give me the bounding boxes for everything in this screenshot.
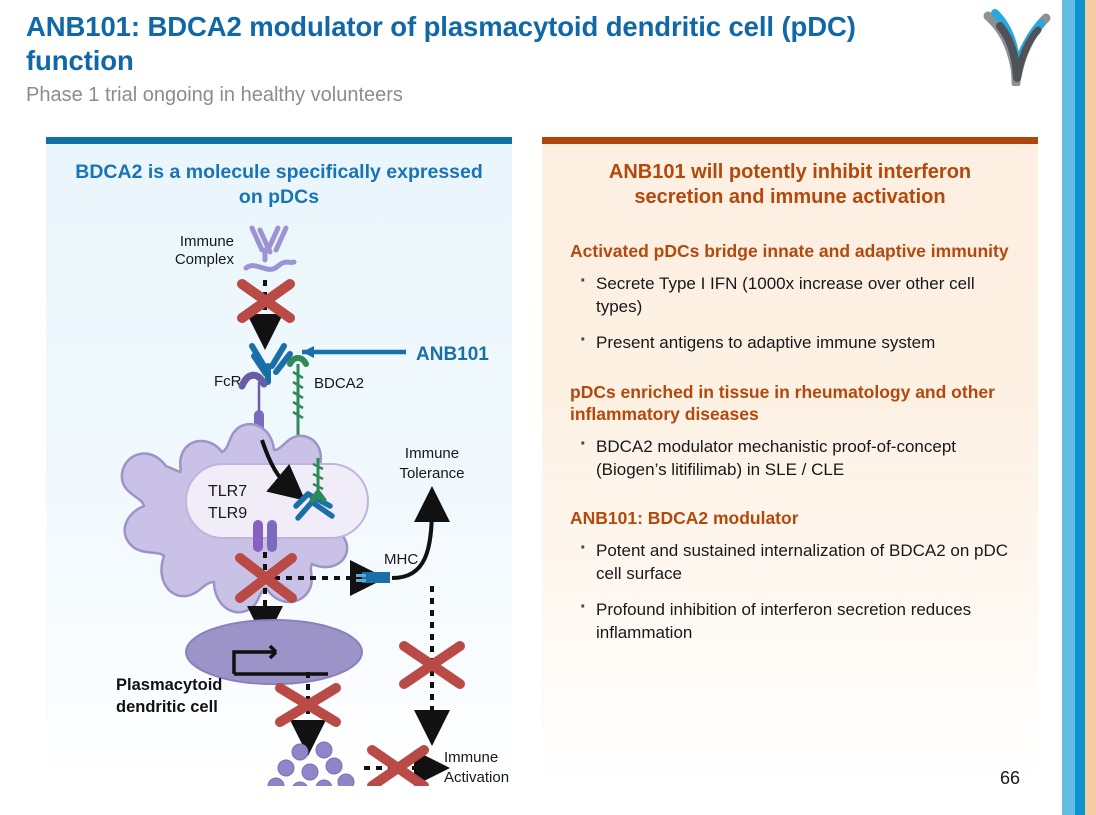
block-cross-4-icon [280, 688, 336, 722]
list-item: Secrete Type I IFN (1000x increase over … [562, 273, 1018, 319]
list-item: BDCA2 modulator mechanistic proof-of-con… [562, 436, 1018, 482]
type-i-ifn-particles [268, 742, 354, 786]
list-item: Present antigens to adaptive immune syst… [562, 332, 1018, 355]
edge-decoration-bars [1062, 0, 1096, 815]
label-immune-activation-line1: Immune [444, 749, 498, 766]
list-item: Profound inhibition of interferon secret… [562, 599, 1018, 645]
edge-bar-light-blue [1062, 0, 1075, 815]
anb101-pointer-head [302, 346, 314, 358]
block-cross-1-icon [242, 284, 290, 318]
bdca2-head-icon [290, 358, 306, 364]
antigen-squiggle-icon [246, 262, 294, 269]
label-mhc: MHC [384, 551, 418, 568]
page-number: 66 [1000, 768, 1020, 789]
pdc-mechanism-diagram: Immune Complex [46, 206, 512, 786]
label-immune-activation-line2: Activation [444, 769, 509, 786]
label-immune-tolerance-line2: Tolerance [399, 465, 464, 482]
chevron-v-logo [978, 6, 1056, 86]
tlr9-channel-icon [267, 520, 277, 552]
section-bullets-0: Secrete Type I IFN (1000x increase over … [562, 273, 1018, 355]
slide-header: ANB101: BDCA2 modulator of plasmacytoid … [26, 10, 946, 107]
label-immune-complex-line1: Immune [180, 233, 234, 250]
edge-bar-dark-blue [1075, 0, 1085, 815]
section-heading-1: pDCs enriched in tissue in rheumatology … [570, 381, 1018, 426]
edge-bar-peach [1085, 0, 1096, 815]
label-immune-tolerance-line1: Immune [405, 445, 459, 462]
label-pdc-line2: dendritic cell [116, 698, 218, 716]
label-tlr9: TLR9 [208, 505, 247, 522]
immune-complex-icon [252, 228, 286, 260]
label-immune-complex-line2: Complex [175, 251, 235, 268]
list-item: Potent and sustained internalization of … [562, 540, 1018, 586]
label-pdc-line1: Plasmacytoid [116, 676, 222, 694]
section-bullets-1: BDCA2 modulator mechanistic proof-of-con… [562, 436, 1018, 482]
left-panel-title: BDCA2 is a molecule specifically express… [68, 160, 490, 210]
right-panel-title: ANB101 will potently inhibit interferon … [568, 160, 1012, 210]
label-tlr7: TLR7 [208, 483, 247, 500]
section-bullets-2: Potent and sustained internalization of … [562, 540, 1018, 645]
left-panel: BDCA2 is a molecule specifically express… [46, 137, 512, 785]
tlr7-channel-icon [253, 520, 263, 552]
page-title: ANB101: BDCA2 modulator of plasmacytoid … [26, 10, 946, 77]
slide-root: ANB101: BDCA2 modulator of plasmacytoid … [0, 0, 1096, 815]
section-heading-2: ANB101: BDCA2 modulator [570, 507, 1018, 529]
label-anb101: ANB101 [416, 344, 489, 365]
label-bdca2: BDCA2 [314, 375, 364, 392]
page-subtitle: Phase 1 trial ongoing in healthy volunte… [26, 83, 946, 107]
label-fcr: FcR [214, 373, 242, 390]
section-heading-0: Activated pDCs bridge innate and adaptiv… [570, 240, 1018, 262]
right-panel: ANB101 will potently inhibit interferon … [542, 137, 1038, 785]
fcr-icon [242, 375, 264, 386]
